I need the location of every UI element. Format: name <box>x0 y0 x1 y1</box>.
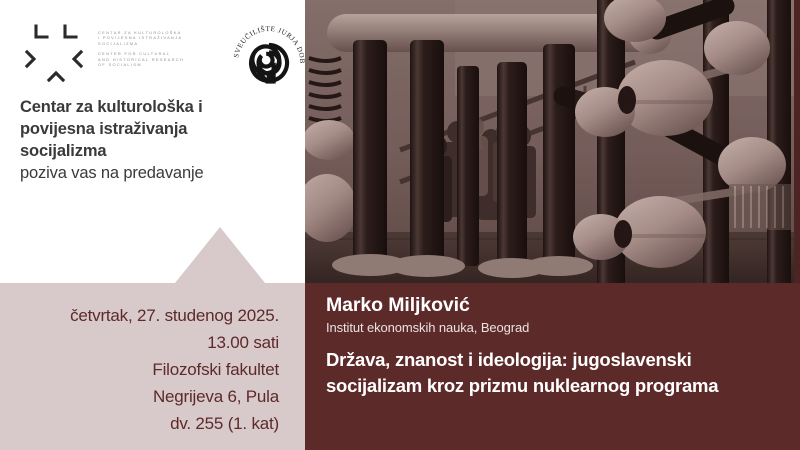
lecture-poster: CENTAR ZA KULTUROLOŠKA I POVIJESNA ISTRA… <box>0 0 800 450</box>
event-room: dv. 255 (1. kat) <box>23 410 279 437</box>
event-venue: Filozofski fakultet <box>23 356 279 383</box>
talk-title: Država, znanost i ideologija: jugoslaven… <box>326 347 786 399</box>
centre-name-line-3: socijalizma <box>20 140 300 162</box>
invitation-block: Centar za kulturološka i povijesna istra… <box>20 96 300 184</box>
event-details-list: četvrtak, 27. studenog 2025. 13.00 sati … <box>23 302 279 437</box>
centre-logotype-text: CENTAR ZA KULTUROLOŠKA I POVIJESNA ISTRA… <box>98 30 223 67</box>
abstract-bracket-mark-icon <box>22 18 90 84</box>
university-spiral-seal-icon: SVEUČILIŠTE JURJA DOBRILE U PULI <box>230 22 308 100</box>
logotype-en-line-3: OF SOCIALISM <box>98 62 223 67</box>
arrow-notch-decoration <box>288 366 305 420</box>
centre-name-line-1: Centar za kulturološka i <box>20 96 300 118</box>
invitation-subtitle: poziva vas na predavanje <box>20 162 300 184</box>
speaker-panel: Marko Miljković Institut ekonomskih nauk… <box>305 283 800 450</box>
speaker-affiliation: Institut ekonomskih nauka, Beograd <box>326 320 529 335</box>
triangle-tab-decoration <box>175 227 265 283</box>
historical-photograph <box>305 0 800 283</box>
photo-right-edge-strip <box>794 0 800 283</box>
centre-name-line-2: povijesna istraživanja <box>20 118 300 140</box>
event-time: 13.00 sati <box>23 329 279 356</box>
event-address: Negrijeva 6, Pula <box>23 383 279 410</box>
event-details-panel: četvrtak, 27. studenog 2025. 13.00 sati … <box>0 283 305 450</box>
svg-text:SVEUČILIŠTE JURJA DOBRILE U PU: SVEUČILIŠTE JURJA DOBRILE U PULI <box>230 22 306 64</box>
logo-row: CENTAR ZA KULTUROLOŠKA I POVIJESNA ISTRA… <box>18 14 303 94</box>
event-date: četvrtak, 27. studenog 2025. <box>23 302 279 329</box>
speaker-name: Marko Miljković <box>326 294 470 317</box>
